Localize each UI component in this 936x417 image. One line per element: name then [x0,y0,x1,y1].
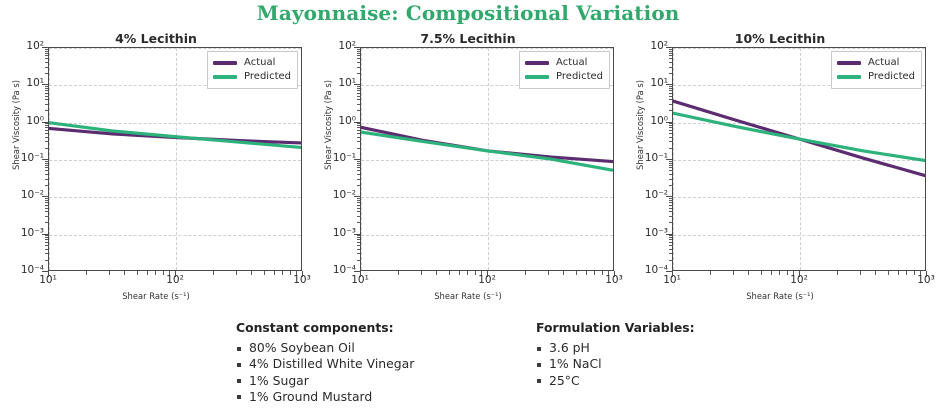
y-tick-label: 10⁻¹ [312,152,356,164]
x-minor-tick [771,271,772,275]
x-minor-tick [449,271,450,275]
chart-panel-2: 10% LecithinShear Viscosity (Pa s)Shear … [624,30,936,315]
x-axis-label: Shear Rate (s⁻¹) [624,291,936,301]
x-tick-mark [360,271,361,277]
legend-swatch-predicted [213,75,237,79]
list-item: 80% Soybean Oil [236,340,414,356]
x-minor-tick [213,271,214,275]
x-tick-mark [175,271,176,277]
legend-label: Actual [556,58,587,68]
x-minor-tick [459,271,460,275]
x-minor-tick [109,271,110,275]
panel-title: 7.5% Lecithin [312,31,624,46]
panel-title: 10% Lecithin [624,31,936,46]
x-minor-tick [548,271,549,275]
panel-title: 4% Lecithin [0,31,312,46]
x-minor-tick [124,271,125,275]
x-minor-tick [860,271,861,275]
x-minor-tick [147,271,148,275]
x-minor-tick [837,271,838,275]
legend-item-actual[interactable]: Actual [837,56,915,70]
x-minor-tick [398,271,399,275]
chart-panels: 4% LecithinShear Viscosity (Pa s)Shear R… [0,30,936,315]
bullet-icon [537,379,541,383]
notes-list: 3.6 pH1% NaCl25°C [536,340,695,389]
notes-heading: Formulation Variables: [536,320,695,335]
y-tick-label: 10¹ [0,77,44,89]
y-tick-label: 10⁻³ [624,227,668,239]
legend-swatch-actual [837,61,861,65]
list-item: 1% Sugar [236,373,414,389]
figure-title: Mayonnaise: Compositional Variation [0,1,936,25]
x-minor-tick [236,271,237,275]
legend-label: Actual [868,58,899,68]
notes-column-0: Constant components:80% Soybean Oil4% Di… [236,320,414,405]
y-tick-label: 10⁻² [312,189,356,201]
x-minor-tick [710,271,711,275]
y-tick-label: 10⁰ [312,115,356,127]
bullet-icon [237,347,241,351]
list-item: 1% Ground Mustard [236,389,414,405]
legend-item-predicted[interactable]: Predicted [213,70,291,84]
x-minor-tick [898,271,899,275]
x-minor-tick [264,271,265,275]
legend-item-actual[interactable]: Actual [525,56,603,70]
x-minor-tick [421,271,422,275]
x-minor-tick [86,271,87,275]
x-tick-mark [926,271,927,277]
plot-area: ActualPredicted [48,47,302,271]
bullet-icon [537,363,541,367]
x-tick-mark [487,271,488,277]
x-minor-tick [251,271,252,275]
plot-area: ActualPredicted [360,47,614,271]
x-tick-mark [302,271,303,277]
x-minor-tick [761,271,762,275]
x-minor-tick [733,271,734,275]
x-minor-tick [525,271,526,275]
x-minor-tick [137,271,138,275]
chart-panel-0: 4% LecithinShear Viscosity (Pa s)Shear R… [0,30,312,315]
x-minor-tick [586,271,587,275]
chart-legend: ActualPredicted [831,51,922,89]
chart-legend: ActualPredicted [519,51,610,89]
list-item-label: 4% Distilled White Vinegar [249,356,414,371]
chart-legend: ActualPredicted [207,51,298,89]
list-item: 3.6 pH [536,340,695,356]
series-line-actual [361,127,614,161]
legend-item-predicted[interactable]: Predicted [837,70,915,84]
bullet-icon [237,379,241,383]
y-tick-label: 10⁻² [624,189,668,201]
bullet-icon [237,363,241,367]
legend-label: Actual [244,58,275,68]
legend-swatch-predicted [837,75,861,79]
x-axis-label: Shear Rate (s⁻¹) [312,291,624,301]
chart-panel-1: 7.5% LecithinShear Viscosity (Pa s)Shear… [312,30,624,315]
series-line-predicted [361,132,614,171]
x-tick-label: 10³ [906,274,936,286]
list-item: 4% Distilled White Vinegar [236,356,414,372]
y-tick-label: 10¹ [312,77,356,89]
legend-label: Predicted [556,72,603,82]
x-minor-tick [274,271,275,275]
y-tick-label: 10² [624,40,668,52]
y-tick-label: 10⁻³ [312,227,356,239]
x-axis-label: Shear Rate (s⁻¹) [0,291,312,301]
legend-swatch-predicted [525,75,549,79]
footnotes: Constant components:80% Soybean Oil4% Di… [0,320,936,417]
x-minor-tick [563,271,564,275]
legend-swatch-actual [213,61,237,65]
x-tick-mark [614,271,615,277]
y-tick-label: 10¹ [624,77,668,89]
y-tick-label: 10² [0,40,44,52]
list-item-label: 80% Soybean Oil [249,340,355,355]
y-tick-label: 10⁻² [0,189,44,201]
y-tick-label: 10² [312,40,356,52]
x-tick-mark [799,271,800,277]
x-minor-tick [576,271,577,275]
legend-item-predicted[interactable]: Predicted [525,70,603,84]
x-minor-tick [436,271,437,275]
legend-swatch-actual [525,61,549,65]
series-line-predicted [673,113,926,161]
plot-area: ActualPredicted [672,47,926,271]
notes-column-1: Formulation Variables:3.6 pH1% NaCl25°C [536,320,695,389]
bullet-icon [537,347,541,351]
y-tick-label: 10⁻¹ [0,152,44,164]
x-tick-mark [48,271,49,277]
legend-item-actual[interactable]: Actual [213,56,291,70]
list-item-label: 25°C [549,373,580,388]
list-item: 25°C [536,373,695,389]
notes-list: 80% Soybean Oil4% Distilled White Vinega… [236,340,414,405]
y-tick-label: 10⁰ [624,115,668,127]
series-line-predicted [49,123,302,148]
list-item-label: 1% NaCl [549,356,602,371]
x-tick-mark [672,271,673,277]
x-minor-tick [888,271,889,275]
y-tick-label: 10⁰ [0,115,44,127]
legend-label: Predicted [244,72,291,82]
notes-heading: Constant components: [236,320,414,335]
legend-label: Predicted [868,72,915,82]
y-tick-label: 10⁻¹ [624,152,668,164]
x-minor-tick [875,271,876,275]
list-item-label: 1% Ground Mustard [249,389,372,404]
list-item: 1% NaCl [536,356,695,372]
list-item-label: 1% Sugar [249,373,309,388]
bullet-icon [237,395,241,399]
x-minor-tick [748,271,749,275]
list-item-label: 3.6 pH [549,340,590,355]
y-tick-label: 10⁻³ [0,227,44,239]
